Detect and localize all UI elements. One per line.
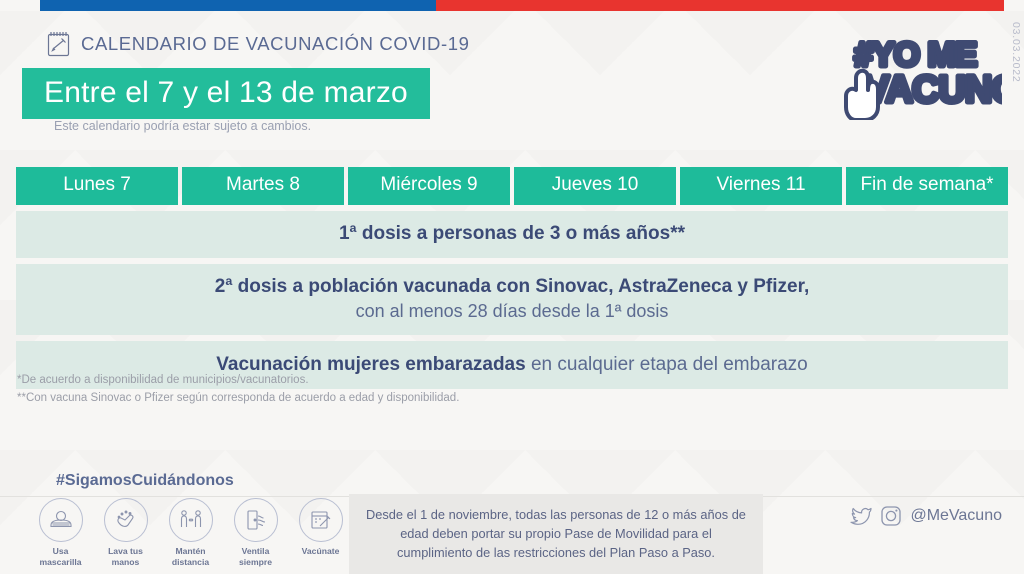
row-primera-dosis-text: 1ª dosis a personas de 3 o más años** [26,222,998,247]
flag-segment-end [1004,0,1024,11]
list-item: Manténdistancia [162,498,219,567]
calendar-column-fin-de-semana: Fin de semana* [846,167,1008,205]
flag-segment-white [0,0,40,11]
yo-me-vacuno-logo: #YO ME VACUNO [842,24,1002,120]
list-item: Ventilasiempre [227,498,284,567]
calendar-header-row: Lunes 7 Martes 8 Miércoles 9 Jueves 10 V… [16,167,1008,205]
notice-line-3: cumplimiento de las restricciones del Pl… [365,543,747,562]
table-row: 2ª dosis a población vacunada con Sinova… [16,264,1008,335]
list-item-label: Usamascarilla [32,546,89,567]
vaccine-calendar-icon [299,498,343,542]
row-segunda-dosis-text: 2ª dosis a población vacunada con Sinova… [26,275,998,300]
row-embarazadas-light: en cualquier etapa del embarazo [526,354,808,375]
date-stamp: 03.03.2022 [1010,22,1022,83]
washing-hands-icon [104,498,148,542]
list-item-label: Lava tusmanos [97,546,154,567]
kicker-label: CALENDARIO DE VACUNACIÓN COVID-19 [81,33,470,55]
list-item-label: Manténdistancia [162,546,219,567]
footnote-one: *De acuerdo a disponibilidad de municipi… [17,372,459,390]
instagram-icon[interactable] [880,505,902,527]
title-banner: Entre el 7 y el 13 de marzo [22,68,430,119]
prevention-block: #SigamosCuidándonos Usamascarilla [32,472,349,567]
vaccination-calendar-table: Lunes 7 Martes 8 Miércoles 9 Jueves 10 V… [16,167,1008,395]
row-segunda-dosis-subtext: con al menos 28 días desde la 1ª dosis [26,299,998,323]
list-item-label: Vacúnate [292,546,349,557]
list-item: Lava tusmanos [97,498,154,567]
twitter-bird-icon[interactable] [848,505,872,527]
calendar-syringe-icon [46,30,72,58]
notice-line-1: Desde el 1 de noviembre, todas las perso… [365,505,747,524]
svg-text:VACUNO: VACUNO [864,69,1002,111]
calendar-column-miercoles: Miércoles 9 [348,167,510,205]
notice-line-2: edad deben portar su propio Pase de Movi… [365,524,747,543]
subject-to-change-note: Este calendario podría estar sujeto a ca… [54,119,311,133]
flag-segment-red [436,0,1004,11]
infographic-page: 03.03.2022 CALENDARIO DE VACUNACIÓN COVI… [0,0,1024,574]
table-row: 1ª dosis a personas de 3 o más años** [16,211,1008,258]
kicker-row: CALENDARIO DE VACUNACIÓN COVID-19 [46,30,470,58]
ventilation-icon [234,498,278,542]
calendar-column-martes: Martes 8 [182,167,344,205]
mobility-pass-notice: Desde el 1 de noviembre, todas las perso… [349,494,763,574]
footnote-two: **Con vacuna Sinovac o Pfizer según corr… [17,390,459,408]
flag-top-bar [0,0,1024,11]
flag-segment-blue [40,0,436,11]
calendar-column-viernes: Viernes 11 [680,167,842,205]
social-handle[interactable]: @MeVacuno [910,507,1002,525]
calendar-column-jueves: Jueves 10 [514,167,676,205]
footnotes: *De acuerdo a disponibilidad de municipi… [17,372,459,408]
list-item: Vacúnate [292,498,349,567]
social-links[interactable]: @MeVacuno [848,505,1002,527]
list-item-label: Ventilasiempre [227,546,284,567]
sigamos-cuidandonos-hashtag: #SigamosCuidándonos [56,472,349,490]
prevention-icon-list: Usamascarilla Lava tusmanos [32,498,349,567]
social-distance-icon [169,498,213,542]
page-title: Entre el 7 y el 13 de marzo [44,76,408,109]
face-mask-icon [39,498,83,542]
calendar-column-lunes: Lunes 7 [16,167,178,205]
list-item: Usamascarilla [32,498,89,567]
